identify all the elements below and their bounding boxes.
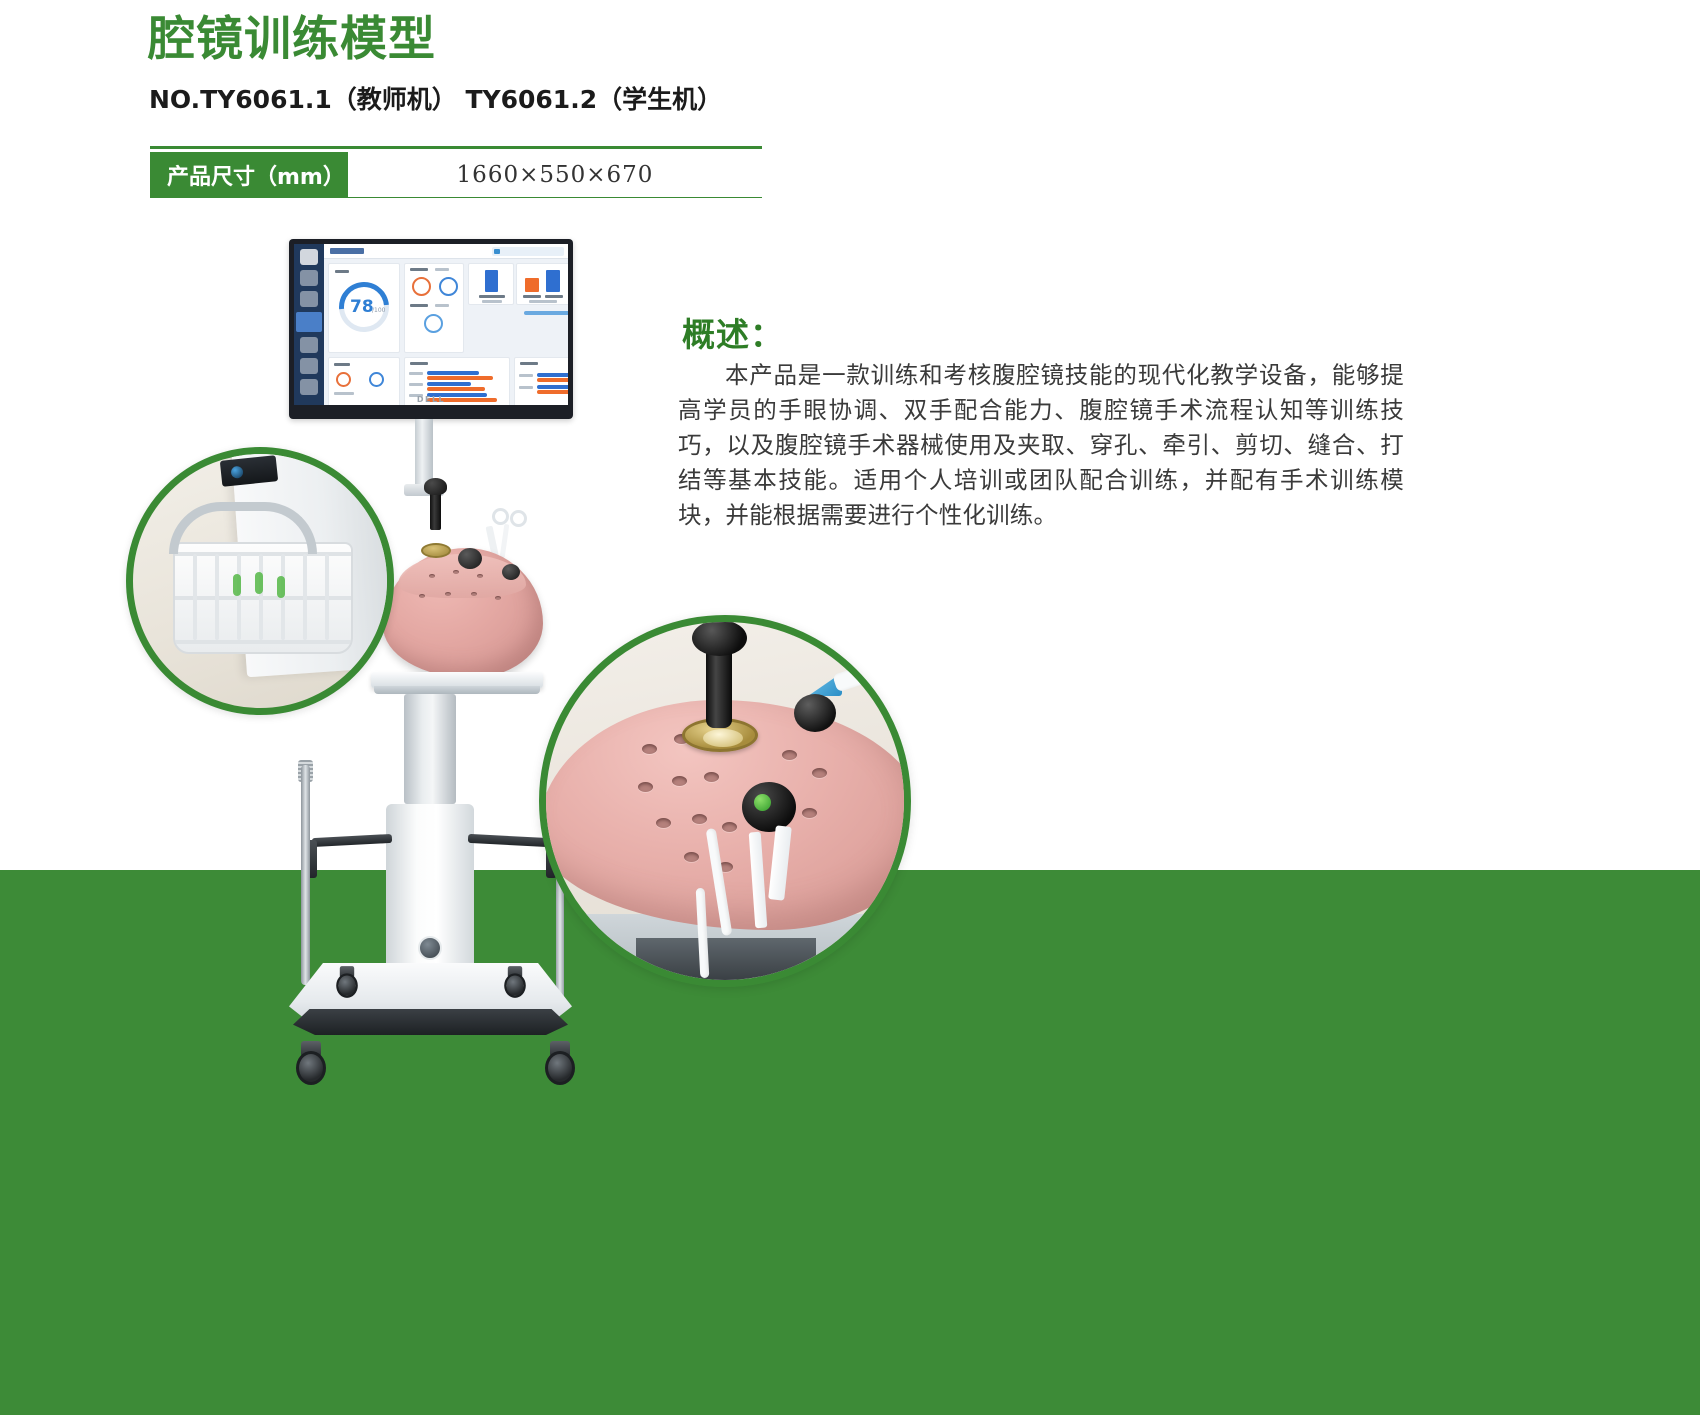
chart-2-subcaption xyxy=(529,300,557,303)
settings-icon xyxy=(300,358,318,374)
caster-wheel xyxy=(545,1041,575,1085)
scissors-ring-2 xyxy=(510,510,527,527)
summary-1-dial-b xyxy=(369,372,384,387)
green-indicator-port xyxy=(742,782,796,832)
hbar-1-blue-1 xyxy=(427,371,479,375)
white-tubing-upper xyxy=(832,662,879,693)
cart-tray-edge xyxy=(374,686,540,694)
green-led-icon xyxy=(754,794,771,811)
hbar-1-blue-2 xyxy=(427,382,471,386)
torso-port-hole xyxy=(672,776,687,786)
hbar-2-cat-1 xyxy=(519,374,533,377)
caster-wheel-disc xyxy=(545,1051,575,1085)
detail-inset-camera-basket xyxy=(126,447,394,715)
monitor-screen: 78 /100 xyxy=(294,244,568,405)
basket-slat xyxy=(193,554,197,640)
hbar-2-cat-2 xyxy=(519,386,533,389)
app-topbar xyxy=(324,244,568,259)
torso-port-hole xyxy=(656,818,671,828)
caster-wheel xyxy=(296,1041,326,1085)
basket-slat xyxy=(325,554,329,640)
hbar-1-cat-1 xyxy=(409,372,423,375)
torso-black-port-1 xyxy=(458,548,482,569)
score-card-label xyxy=(335,270,349,273)
metric-label-2 xyxy=(435,268,449,271)
view-details-link[interactable] xyxy=(524,311,568,315)
torso-port-hole xyxy=(638,782,653,792)
metric-dial-stability xyxy=(424,314,443,333)
bar-2a xyxy=(525,278,539,292)
detail-inset-torso-ports xyxy=(539,615,911,987)
chart-2-caption-a xyxy=(523,295,541,298)
caster-wheel-disc xyxy=(336,973,358,997)
table-shadow xyxy=(636,938,816,987)
overview-heading: 概述： xyxy=(682,308,784,356)
hbar-1-orange-1 xyxy=(427,376,493,380)
caster-wheel xyxy=(504,966,526,998)
trocar-knob xyxy=(424,478,447,495)
score-card: 78 /100 xyxy=(328,263,400,353)
metric-label-3 xyxy=(410,304,428,307)
cart-handle-right[interactable] xyxy=(468,834,550,847)
torso-port-hole xyxy=(692,814,707,824)
score-value: 78 xyxy=(350,297,374,317)
users-icon xyxy=(300,270,318,286)
caster-wheel-disc xyxy=(296,1051,326,1085)
metric-label-4 xyxy=(435,304,449,307)
summary-1-title xyxy=(334,363,350,366)
bar-2b xyxy=(546,270,560,292)
activity-icon xyxy=(300,291,318,307)
hbar-1-orange-2 xyxy=(427,387,485,391)
instrument-basket xyxy=(173,542,353,654)
cart-handle-left[interactable] xyxy=(312,834,392,847)
hbar-2-orange-2 xyxy=(537,390,568,394)
chart-2-caption-b xyxy=(545,295,563,298)
hbar-2-title xyxy=(520,362,538,365)
basket-slat xyxy=(259,554,263,640)
port-hole xyxy=(453,570,459,574)
metric-label-1 xyxy=(410,268,428,271)
basket-green-indicator xyxy=(233,574,241,596)
port-hole xyxy=(495,596,501,600)
bar-1 xyxy=(485,270,498,292)
cart-power-badge xyxy=(418,936,442,960)
breadcrumb xyxy=(330,248,364,254)
cart-base-dark-trim xyxy=(293,1009,568,1035)
port-hole xyxy=(429,574,435,578)
dell-logo: DELL xyxy=(294,395,568,404)
user-info-chip xyxy=(492,247,564,256)
port-hole xyxy=(477,574,483,578)
metric-dial-time xyxy=(412,277,431,296)
basket-green-indicator xyxy=(277,576,285,598)
black-port-closeup xyxy=(794,694,836,732)
overview-paragraph: 本产品是一款训练和考核腹腔镜技能的现代化教学设备，能够提高学员的手眼协调、双手配… xyxy=(678,358,1404,533)
training-icon xyxy=(296,312,322,332)
basket-slat xyxy=(215,554,219,640)
gold-port-inner xyxy=(703,729,743,747)
hbar-1-title xyxy=(410,362,428,365)
torso-port-hole xyxy=(782,750,797,760)
accessory-rod xyxy=(301,765,310,985)
chart-1-subcaption xyxy=(482,300,502,303)
metric-dial-accuracy xyxy=(439,277,458,296)
home-icon xyxy=(300,249,318,265)
hbar-1-cat-2 xyxy=(409,383,423,386)
monitor-display: 78 /100 xyxy=(289,239,573,419)
caster-wheel-disc xyxy=(504,973,526,997)
torso-port-hole xyxy=(642,744,657,754)
port-hole xyxy=(471,592,477,596)
torso-gold-port xyxy=(421,543,451,558)
product-catalog-page: 腔镜训练模型 NO.TY6061.1（教师机） TY6061.2（学生机） 产品… xyxy=(0,0,1700,1415)
torso-port-hole xyxy=(812,768,827,778)
score-denominator: /100 xyxy=(372,307,385,314)
basket-band-bottom xyxy=(175,640,351,644)
app-sidebar xyxy=(294,244,324,405)
cart-base xyxy=(289,963,572,1041)
basket-green-indicator xyxy=(255,572,263,594)
torso-port-hole xyxy=(722,822,737,832)
port-hole xyxy=(445,592,451,596)
caster-wheel xyxy=(336,966,358,998)
summary-1-dial xyxy=(336,372,351,387)
torso-port-hole xyxy=(802,808,817,818)
trocar-knob-closeup xyxy=(692,620,747,656)
basket-slat xyxy=(303,554,307,640)
basket-slat xyxy=(237,554,241,640)
torso-black-port-2 xyxy=(502,564,520,580)
hbar-2-orange-1 xyxy=(537,378,568,382)
app-content: 78 /100 xyxy=(326,261,566,403)
hbar-2-blue-1 xyxy=(537,373,568,377)
port-hole xyxy=(419,594,425,598)
product-photo-composite: 78 /100 xyxy=(0,0,1700,1415)
torso-port-hole xyxy=(704,772,719,782)
metrics-card xyxy=(404,263,464,353)
report-icon xyxy=(300,337,318,353)
torso-port-hole xyxy=(684,852,699,862)
scissors-ring-1 xyxy=(492,508,509,525)
chart-card-2 xyxy=(516,263,568,305)
cart-column-upper xyxy=(404,694,456,804)
chart-card-1 xyxy=(468,263,514,305)
hbar-2-blue-2 xyxy=(537,385,568,389)
help-icon xyxy=(300,379,318,395)
camera-lens-icon xyxy=(230,466,243,479)
chart-1-caption xyxy=(479,295,505,298)
